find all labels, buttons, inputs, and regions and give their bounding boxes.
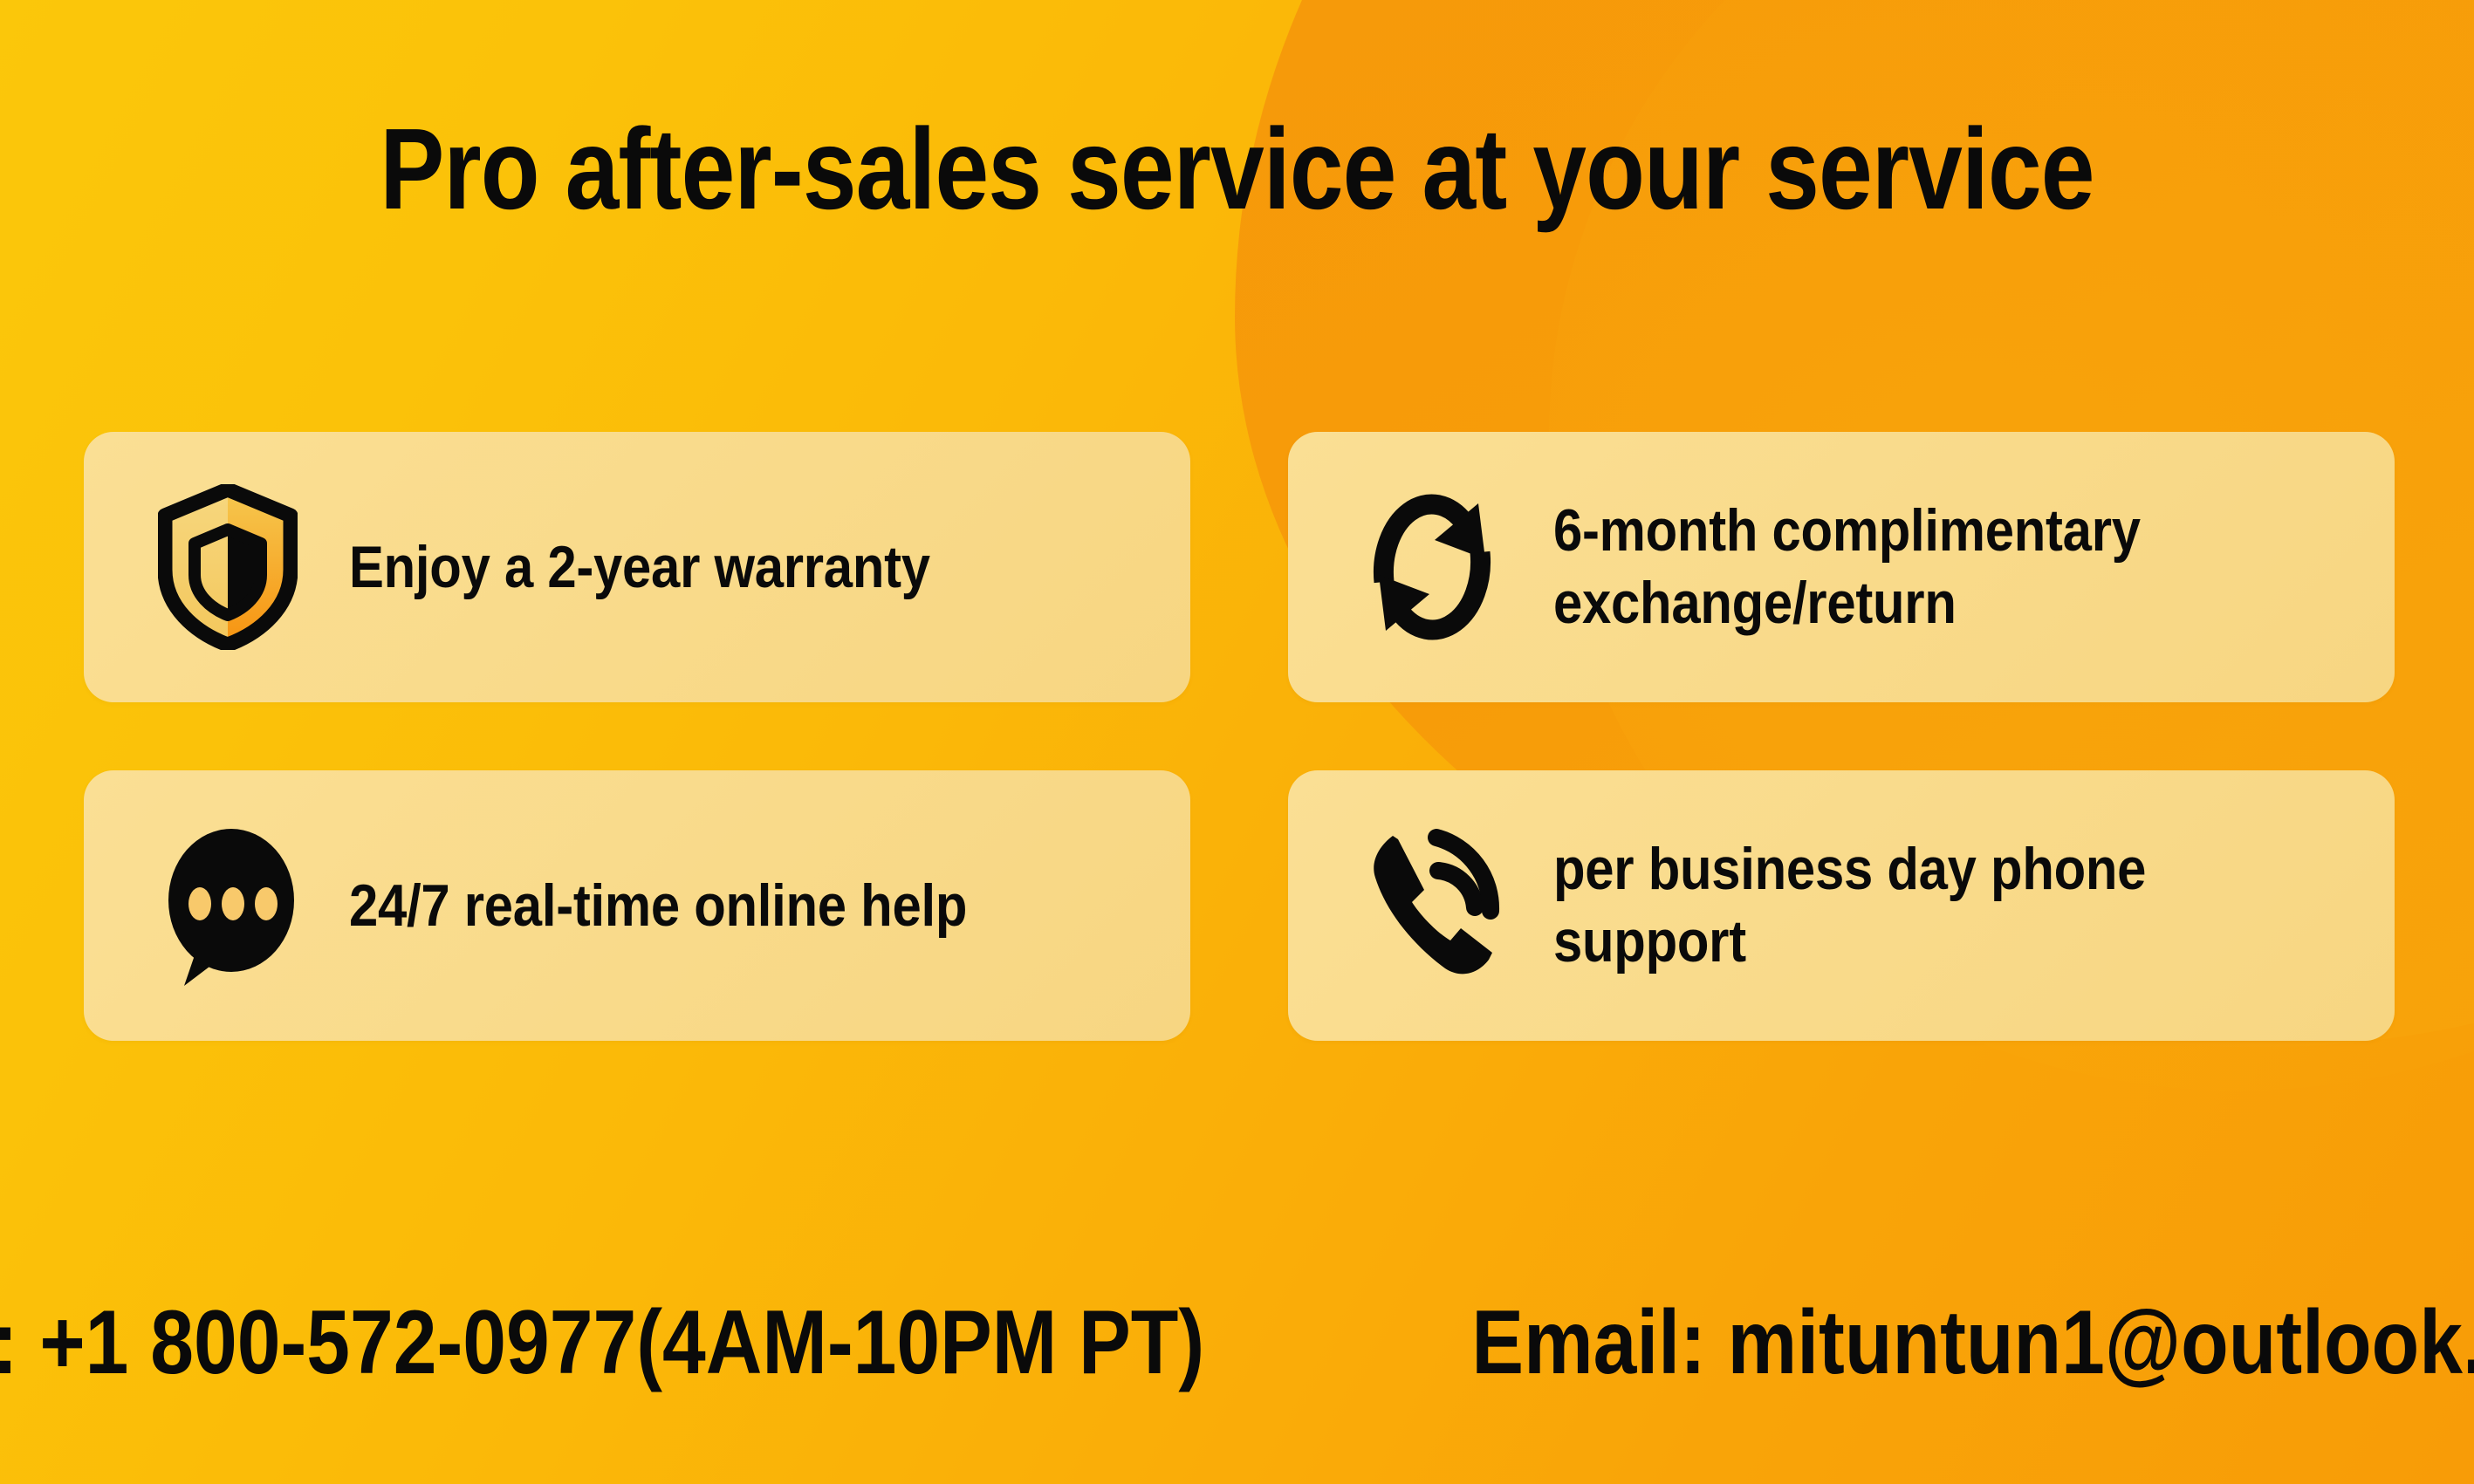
feature-label-online-help: 24/7 real-time online help — [349, 870, 967, 942]
promotional-banner: Pro after-sales service at your service — [0, 0, 2474, 1484]
exchange-return-icon — [1358, 482, 1506, 653]
telephone-text[interactable]: TEL: +1 800-572-0977(4AM-10PM PT) — [0, 1297, 1204, 1388]
email-text[interactable]: Email: mituntun1@outlook.com — [1471, 1297, 2474, 1388]
contact-footer: TEL: +1 800-572-0977(4AM-10PM PT) Email:… — [0, 1297, 2474, 1388]
feature-label-phone-support: per business day phone support — [1553, 833, 2258, 978]
feature-label-exchange-return: 6-month complimentary exchange/return — [1553, 495, 2258, 639]
shield-icon — [154, 482, 302, 653]
feature-card-warranty[interactable]: Enjoy a 2-year warranty — [84, 432, 1190, 702]
phone-call-icon — [1358, 820, 1506, 991]
page-title: Pro after-sales service at your service — [198, 112, 2276, 227]
feature-card-online-help[interactable]: 24/7 real-time online help — [84, 770, 1190, 1041]
feature-card-phone-support[interactable]: per business day phone support — [1288, 770, 2395, 1041]
chat-bubble-icon — [154, 820, 302, 991]
feature-label-warranty: Enjoy a 2-year warranty — [349, 531, 930, 604]
feature-card-grid: Enjoy a 2-year warranty — [84, 432, 2396, 1041]
feature-card-exchange-return[interactable]: 6-month complimentary exchange/return — [1288, 432, 2395, 702]
